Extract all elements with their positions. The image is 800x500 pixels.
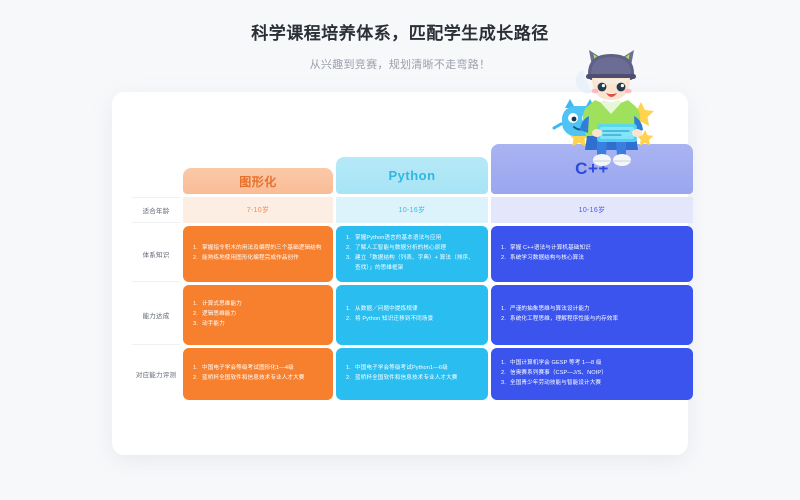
python-assessment: 中国电子学会等级考试Python1—6级蓝桥杯全国软件和信息技术专业人才大赛 xyxy=(336,348,488,400)
python-header-cell: Python xyxy=(336,144,488,194)
row-label-knowledge: 体系知识 xyxy=(132,226,180,282)
scratch-knowledge: 掌握指令积木的用法及编程的三个基础逻辑结构能熟练地使用图形化编程完成作品创作 xyxy=(183,226,333,282)
python-knowledge: 掌握Python语言的基本语法与应用了解人工智能与数据分析的核心原理建立「数据结… xyxy=(336,226,488,282)
program-column-cpp[interactable]: C++ 10-16岁 掌握 C++语法与计算机基础知识系统学习数据结构与核心算法… xyxy=(491,144,693,437)
curriculum-card: 适合年龄 体系知识 能力达成 对应能力评测 图形化 7-10岁 掌握指令积木的用… xyxy=(112,92,688,455)
row-label-assessment: 对应能力评测 xyxy=(132,348,180,400)
list-item: 中国电子学会等级考试图形化1—4级 xyxy=(193,364,323,374)
list-item: 能熟练地使用图形化编程完成作品创作 xyxy=(193,254,323,264)
row-label-column: 适合年龄 体系知识 能力达成 对应能力评测 xyxy=(132,144,180,437)
python-assessment-list: 中国电子学会等级考试Python1—6级蓝桥杯全国软件和信息技术专业人才大赛 xyxy=(346,364,478,384)
list-item: 中国计算机学会 GESP 等考 1—8 级 xyxy=(501,359,683,369)
page-header: 科学课程培养体系，匹配学生成长路径 从兴趣到竞赛，规划清晰不走弯路！ xyxy=(0,0,800,72)
list-item: 动手能力 xyxy=(193,320,323,330)
python-age: 10-16岁 xyxy=(336,197,488,223)
python-knowledge-list: 掌握Python语言的基本语法与应用了解人工智能与数据分析的核心原理建立「数据结… xyxy=(346,234,478,273)
cpp-knowledge-list: 掌握 C++语法与计算机基础知识系统学习数据结构与核心算法 xyxy=(501,244,683,264)
list-item: 建立「数据结构（列表、字典）+ 算法（排序、查找）」的思维框架 xyxy=(346,254,478,274)
scratch-knowledge-list: 掌握指令积木的用法及编程的三个基础逻辑结构能熟练地使用图形化编程完成作品创作 xyxy=(193,244,323,264)
scratch-age: 7-10岁 xyxy=(183,197,333,223)
scratch-assessment: 中国电子学会等级考试图形化1—4级蓝桥杯全国软件和信息技术专业人才大赛 xyxy=(183,348,333,400)
scratch-ability-list: 计算式思维能力逻辑思维能力动手能力 xyxy=(193,300,323,329)
list-item: 计算式思维能力 xyxy=(193,300,323,310)
page-subtitle: 从兴趣到竞赛，规划清晰不走弯路！ xyxy=(0,56,800,72)
row-label-age: 适合年龄 xyxy=(132,197,180,223)
scratch-assessment-list: 中国电子学会等级考试图形化1—4级蓝桥杯全国软件和信息技术专业人才大赛 xyxy=(193,364,323,384)
cpp-assessment-list: 中国计算机学会 GESP 等考 1—8 级信奥赛系列赛事（CSP—J/S、NOI… xyxy=(501,359,683,388)
list-item: 了解人工智能与数据分析的核心原理 xyxy=(346,244,478,254)
row-label-ability: 能力达成 xyxy=(132,285,180,345)
python-ability-list: 从数据／问题中提炼规律将 Python 知识迁移到不同场景 xyxy=(346,305,478,325)
list-item: 蓝桥杯全国软件和信息技术专业人才大赛 xyxy=(346,374,478,384)
python-ability: 从数据／问题中提炼规律将 Python 知识迁移到不同场景 xyxy=(336,285,488,345)
cpp-assessment: 中国计算机学会 GESP 等考 1—8 级信奥赛系列赛事（CSP—J/S、NOI… xyxy=(491,348,693,400)
list-item: 信奥赛系列赛事（CSP—J/S、NOIP） xyxy=(501,369,683,379)
list-item: 从数据／问题中提炼规律 xyxy=(346,305,478,315)
list-item: 掌握Python语言的基本语法与应用 xyxy=(346,234,478,244)
scratch-ability: 计算式思维能力逻辑思维能力动手能力 xyxy=(183,285,333,345)
list-item: 系统学习数据结构与核心算法 xyxy=(501,254,683,264)
list-item: 严谨的抽象思维与算法设计能力 xyxy=(501,305,683,315)
scratch-header-cell: 图形化 xyxy=(183,144,333,194)
program-column-scratch[interactable]: 图形化 7-10岁 掌握指令积木的用法及编程的三个基础逻辑结构能熟练地使用图形化… xyxy=(183,144,333,437)
cpp-header-cell: C++ xyxy=(491,144,693,194)
cpp-ability: 严谨的抽象思维与算法设计能力系统化工程思维，理解程序性能与内存效率 xyxy=(491,285,693,345)
list-item: 掌握指令积木的用法及编程的三个基础逻辑结构 xyxy=(193,244,323,254)
list-item: 将 Python 知识迁移到不同场景 xyxy=(346,315,478,325)
cpp-age: 10-16岁 xyxy=(491,197,693,223)
list-item: 中国电子学会等级考试Python1—6级 xyxy=(346,364,478,374)
cpp-knowledge: 掌握 C++语法与计算机基础知识系统学习数据结构与核心算法 xyxy=(491,226,693,282)
program-column-python[interactable]: Python 10-16岁 掌握Python语言的基本语法与应用了解人工智能与数… xyxy=(336,144,488,437)
list-item: 全国青少年劳动技能与智能设计大赛 xyxy=(501,379,683,389)
hair-back xyxy=(576,70,591,93)
list-item: 蓝桥杯全国软件和信息技术专业人才大赛 xyxy=(193,374,323,384)
curriculum-matrix: 适合年龄 体系知识 能力达成 对应能力评测 图形化 7-10岁 掌握指令积木的用… xyxy=(132,144,674,437)
list-item: 逻辑思维能力 xyxy=(193,310,323,320)
list-item: 掌握 C++语法与计算机基础知识 xyxy=(501,244,683,254)
label-column-header-spacer xyxy=(132,144,180,194)
page-title: 科学课程培养体系，匹配学生成长路径 xyxy=(0,22,800,46)
cpp-ability-list: 严谨的抽象思维与算法设计能力系统化工程思维，理解程序性能与内存效率 xyxy=(501,305,683,325)
cpp-title: C++ xyxy=(491,144,693,194)
matrix-grid: 适合年龄 体系知识 能力达成 对应能力评测 图形化 7-10岁 掌握指令积木的用… xyxy=(132,144,674,437)
list-item: 系统化工程思维，理解程序性能与内存效率 xyxy=(501,315,683,325)
scratch-title: 图形化 xyxy=(183,168,333,194)
python-title: Python xyxy=(336,157,488,194)
